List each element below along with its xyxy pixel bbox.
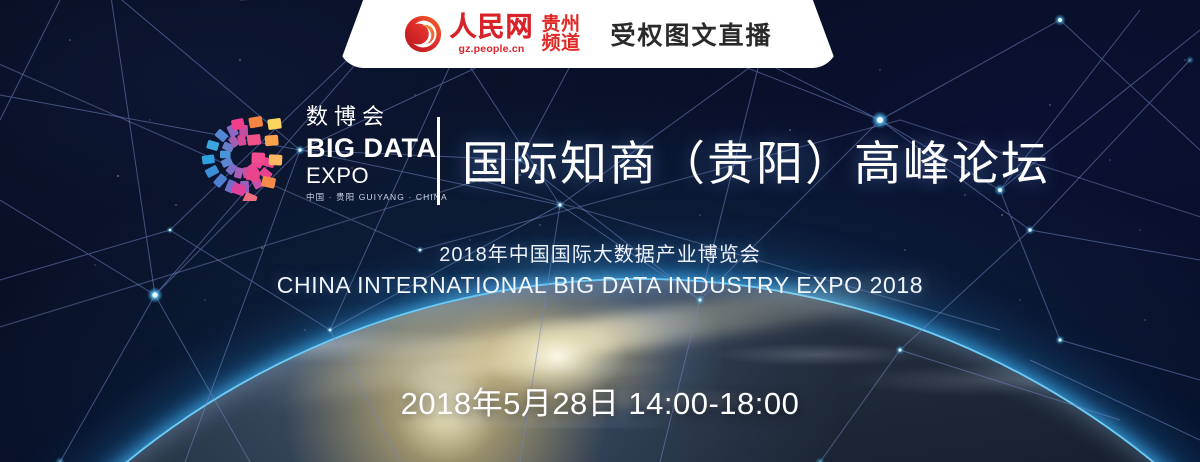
expo-en-name-line1: BIG DATA	[306, 135, 448, 163]
peoples-daily-wordmark: 人民网 gz.people.cn	[449, 14, 533, 55]
expo-logo-text: 数博会 BIG DATA EXPO 中国 · 贵阳 GUIYANG · CHIN…	[306, 104, 448, 202]
expo-subtitle-en: CHINA INTERNATIONAL BIG DATA INDUSTRY EX…	[0, 272, 1200, 299]
peoples-daily-swirl-icon	[403, 14, 443, 54]
guizhou-channel-label: 贵州 频道	[541, 15, 580, 54]
expo-location: 中国 · 贵阳 GUIYANG · CHINA	[306, 193, 448, 202]
forum-headline: 国际知商（贵阳）高峰论坛	[462, 125, 1050, 194]
expo-cn-name: 数博会	[306, 106, 448, 128]
authorized-live-label: 受权图文直播	[611, 16, 773, 52]
event-datetime: 2018年5月28日 14:00-18:00	[0, 378, 1200, 423]
peoples-daily-url: gz.people.cn	[458, 44, 524, 55]
peoples-daily-logo[interactable]: 人民网 gz.people.cn 贵州 频道	[403, 14, 580, 55]
event-banner-screenshot: 人民网 gz.people.cn 贵州 频道 受权图文直播	[0, 0, 1200, 462]
expo-en-name-line2: EXPO	[306, 164, 448, 188]
peoples-daily-cn: 人民网	[449, 14, 533, 41]
big-data-expo-lockup: 数博会 BIG DATA EXPO 中国 · 贵阳 GUIYANG · CHIN…	[196, 104, 448, 202]
banner-content: 人民网 gz.people.cn 贵州 频道 受权图文直播	[338, 0, 838, 68]
channel-line-2: 频道	[541, 34, 580, 53]
expo-subtitle-cn: 2018年中国国际大数据产业博览会	[0, 238, 1200, 267]
big-data-expo-spiral-icon	[196, 105, 292, 201]
vertical-divider	[437, 117, 440, 205]
